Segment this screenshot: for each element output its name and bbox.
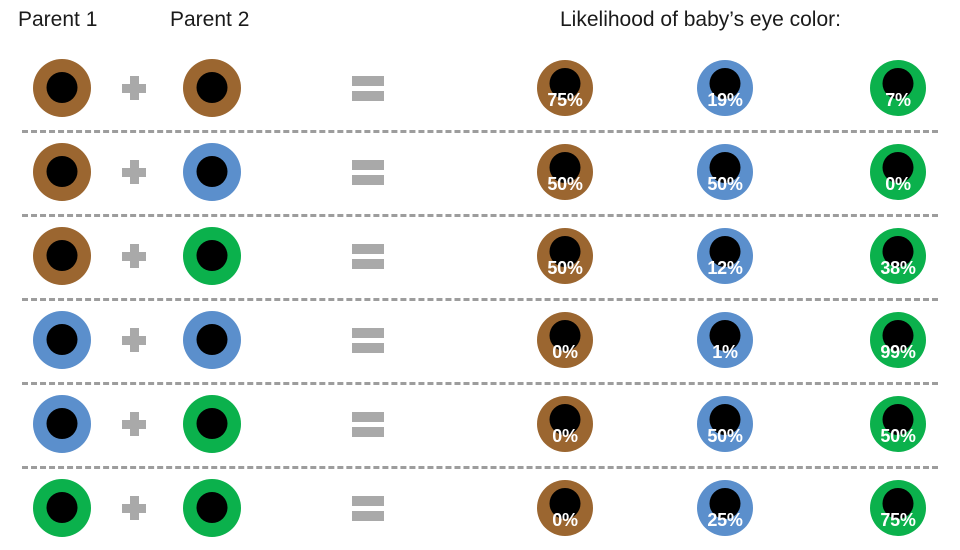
equals-icon [352, 328, 384, 353]
parent2-column-header: Parent 2 [170, 8, 249, 32]
percentage-label: 19% [697, 91, 753, 109]
result-eye-green: 99% [870, 312, 926, 368]
pupil-icon [197, 324, 228, 355]
pupil-icon [47, 324, 78, 355]
equals-icon [352, 496, 384, 521]
row-divider [22, 130, 938, 133]
result-eye-brown: 75% [537, 60, 593, 116]
percentage-label: 50% [697, 427, 753, 445]
plus-icon [122, 244, 146, 268]
result-eye-brown: 0% [537, 396, 593, 452]
percentage-label: 1% [697, 343, 753, 361]
percentage-label: 0% [537, 343, 593, 361]
plus-icon [122, 76, 146, 100]
percentage-label: 0% [870, 175, 926, 193]
pupil-icon [47, 156, 78, 187]
equals-icon [352, 244, 384, 269]
parent2-eye-icon [183, 59, 241, 117]
parent2-eye-icon [183, 311, 241, 369]
result-eye-blue: 1% [697, 312, 753, 368]
result-eye-brown: 50% [537, 144, 593, 200]
parent1-eye-icon [33, 395, 91, 453]
parent1-eye-icon [33, 143, 91, 201]
eye-color-likelihood-chart: Parent 1 Parent 2 Likelihood of baby’s e… [0, 0, 960, 550]
result-eye-green: 7% [870, 60, 926, 116]
pupil-icon [197, 156, 228, 187]
plus-icon [122, 496, 146, 520]
plus-icon [122, 412, 146, 436]
pupil-icon [47, 492, 78, 523]
percentage-label: 38% [870, 259, 926, 277]
equals-icon [352, 160, 384, 185]
percentage-label: 50% [870, 427, 926, 445]
pupil-icon [47, 240, 78, 271]
parent2-eye-icon [183, 479, 241, 537]
result-eye-brown: 0% [537, 312, 593, 368]
percentage-label: 99% [870, 343, 926, 361]
pupil-icon [197, 240, 228, 271]
chart-row: 50%50%0% [0, 130, 960, 214]
result-eye-green: 38% [870, 228, 926, 284]
equals-icon [352, 76, 384, 101]
percentage-label: 0% [537, 511, 593, 529]
parent1-eye-icon [33, 59, 91, 117]
row-divider [22, 298, 938, 301]
percentage-label: 50% [537, 175, 593, 193]
result-eye-blue: 50% [697, 396, 753, 452]
parent1-eye-icon [33, 227, 91, 285]
percentage-label: 50% [697, 175, 753, 193]
plus-icon [122, 160, 146, 184]
chart-rows: 75%19%7%50%50%0%50%12%38%0%1%99%0%50%50%… [0, 46, 960, 550]
percentage-label: 0% [537, 427, 593, 445]
pupil-icon [47, 408, 78, 439]
pupil-icon [197, 408, 228, 439]
chart-row: 0%25%75% [0, 466, 960, 550]
percentage-label: 75% [870, 511, 926, 529]
result-eye-green: 0% [870, 144, 926, 200]
result-eye-blue: 50% [697, 144, 753, 200]
equals-icon [352, 412, 384, 437]
result-eye-green: 50% [870, 396, 926, 452]
percentage-label: 50% [537, 259, 593, 277]
chart-row: 0%1%99% [0, 298, 960, 382]
parent2-eye-icon [183, 395, 241, 453]
plus-icon [122, 328, 146, 352]
result-eye-blue: 25% [697, 480, 753, 536]
chart-row: 50%12%38% [0, 214, 960, 298]
percentage-label: 12% [697, 259, 753, 277]
result-eye-blue: 12% [697, 228, 753, 284]
result-eye-brown: 0% [537, 480, 593, 536]
percentage-label: 7% [870, 91, 926, 109]
result-eye-blue: 19% [697, 60, 753, 116]
pupil-icon [197, 72, 228, 103]
pupil-icon [197, 492, 228, 523]
chart-header: Parent 1 Parent 2 Likelihood of baby’s e… [0, 0, 960, 46]
chart-row: 75%19%7% [0, 46, 960, 130]
row-divider [22, 382, 938, 385]
row-divider [22, 466, 938, 469]
parent1-column-header: Parent 1 [18, 8, 97, 32]
chart-row: 0%50%50% [0, 382, 960, 466]
pupil-icon [47, 72, 78, 103]
result-eye-green: 75% [870, 480, 926, 536]
parent2-eye-icon [183, 143, 241, 201]
percentage-label: 75% [537, 91, 593, 109]
result-eye-brown: 50% [537, 228, 593, 284]
parent2-eye-icon [183, 227, 241, 285]
parent1-eye-icon [33, 311, 91, 369]
parent1-eye-icon [33, 479, 91, 537]
row-divider [22, 214, 938, 217]
likelihood-column-header: Likelihood of baby’s eye color: [560, 8, 841, 32]
percentage-label: 25% [697, 511, 753, 529]
